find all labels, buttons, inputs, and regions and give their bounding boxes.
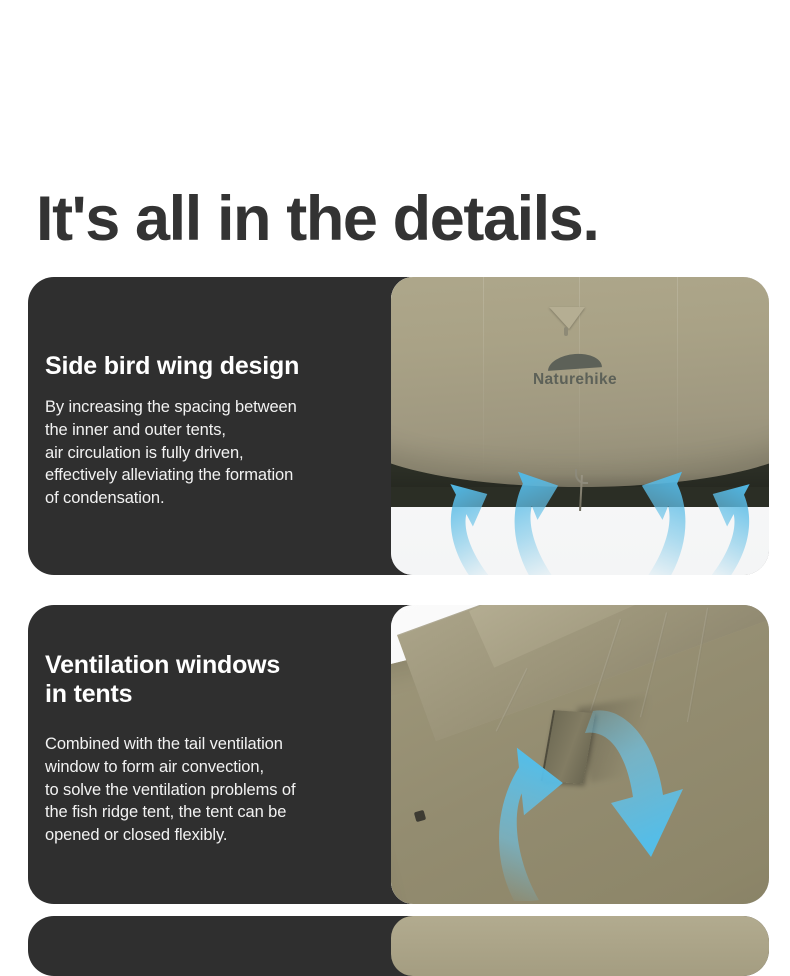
feature-card-body: Combined with the tail ventilation windo… <box>45 733 393 847</box>
airflow-arrow-up-icon <box>691 475 761 575</box>
airflow-arrow-up-icon <box>501 465 577 575</box>
feature-card-text-panel: Ventilation windows in tents Combined wi… <box>28 605 392 904</box>
airflow-arrow-up-icon <box>477 741 577 904</box>
naturehike-arc-icon <box>548 352 602 371</box>
zipper-pull-icon <box>564 327 568 336</box>
vent-hood-icon <box>549 307 585 329</box>
tent-ventilation-window-photo <box>391 605 769 904</box>
feature-card-body: By increasing the spacing between the in… <box>45 396 391 510</box>
airflow-arrow-up-icon <box>439 475 509 575</box>
feature-card-side-bird-wing-design: Side bird wing design By increasing the … <box>28 277 769 575</box>
naturehike-logo: Naturehike <box>510 354 640 389</box>
next-feature-photo <box>391 916 769 976</box>
airflow-arrow-down-icon <box>583 699 701 872</box>
product-detail-page: It's all in the details. Side bird wing … <box>0 0 790 921</box>
canopy-seam-icon <box>483 277 484 477</box>
feature-card-next <box>28 916 769 976</box>
airflow-arrow-up-icon <box>623 465 699 575</box>
naturehike-logo-text: Naturehike <box>510 371 640 389</box>
canopy-seam-icon <box>677 277 678 477</box>
feature-card-ventilation-windows-in-tents: Ventilation windows in tents Combined wi… <box>28 605 769 904</box>
feature-card-text-panel <box>28 916 392 976</box>
feature-card-heading: Ventilation windows in tents <box>45 651 280 710</box>
tent-canopy-airflow-photo: Naturehike <box>391 277 769 575</box>
feature-card-text-panel: Side bird wing design By increasing the … <box>28 277 392 575</box>
feature-card-heading: Side bird wing design <box>45 352 299 381</box>
page-title: It's all in the details. <box>36 186 599 252</box>
